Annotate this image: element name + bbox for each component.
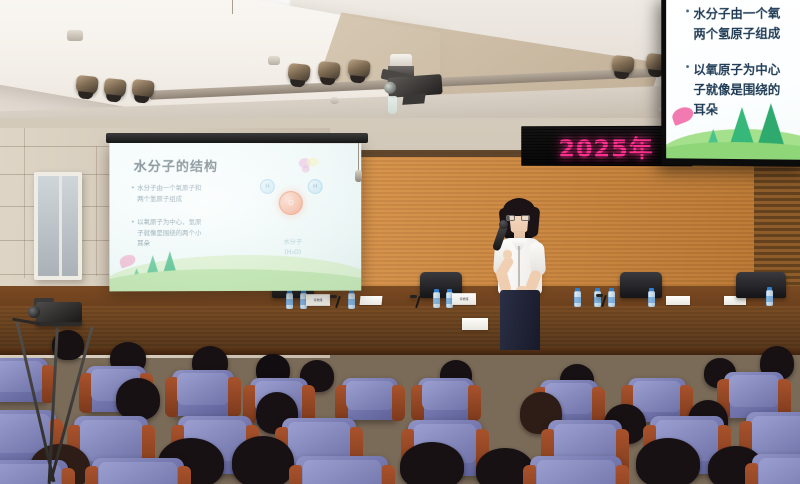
hydrogen-atom-right: H bbox=[308, 179, 323, 194]
slide-bullet-2: • 以氧原子为中心，氢原 子就像是围绕的两个小 耳朵 bbox=[132, 217, 242, 249]
screen-pull-cord bbox=[358, 143, 359, 173]
bullet-marker-icon: • bbox=[686, 4, 690, 44]
water-bottle bbox=[574, 288, 581, 307]
water-molecule-diagram: H H O bbox=[258, 179, 328, 225]
slide-bullet-1: • 水分子由一个氧原子和 两个氢原子组成 bbox=[132, 183, 242, 204]
slide-title: 水分子的结构 bbox=[134, 156, 218, 175]
ceiling-hanger-wire bbox=[232, 0, 233, 14]
ceiling-sprinkler bbox=[268, 56, 280, 65]
tree-icon bbox=[757, 103, 785, 147]
projection-screen-housing bbox=[106, 133, 368, 143]
bullet-marker-icon: • bbox=[132, 217, 134, 249]
audience-area bbox=[0, 320, 800, 484]
panel-chair bbox=[620, 272, 662, 298]
desk-microphone bbox=[330, 296, 346, 308]
video-camera bbox=[28, 298, 86, 324]
secondary-bullet-1-text: 水分子由一个氧 两个氢原子组成 bbox=[693, 4, 780, 45]
bullet-marker-icon: • bbox=[132, 183, 134, 204]
secondary-bullet-1: • 水分子由一个氧 两个氢原子组成 bbox=[686, 3, 800, 44]
presentation-slide: 水分子的结构 • 水分子由一个氧原子和 两个氢原子组成 • 以氧原子为中心，氢原… bbox=[109, 143, 361, 292]
name-card-label: 评委席 bbox=[452, 293, 476, 305]
water-bottle bbox=[348, 290, 355, 309]
wall-vent-window bbox=[34, 172, 82, 280]
ceiling-vent bbox=[67, 30, 83, 41]
water-bottle bbox=[433, 289, 440, 308]
hydrogen-atom-left: H bbox=[260, 179, 275, 194]
audience-head bbox=[400, 442, 464, 484]
slide-bullet-2-text: 以氧原子为中心，氢原 子就像是围绕的两个小 耳朵 bbox=[137, 217, 201, 249]
auditorium-seat[interactable] bbox=[752, 454, 800, 484]
butterfly-icon bbox=[298, 157, 320, 173]
audience-head bbox=[636, 438, 700, 484]
name-card-label: 评委席 bbox=[306, 294, 330, 306]
water-bottle bbox=[286, 290, 293, 309]
auditorium-seat[interactable] bbox=[92, 458, 184, 484]
presenter-hand bbox=[503, 250, 512, 259]
projection-screen: 水分子的结构 • 水分子由一个氧原子和 两个氢原子组成 • 以氧原子为中心，氢原… bbox=[109, 143, 361, 292]
auditorium-seat[interactable] bbox=[418, 378, 474, 420]
water-bottle bbox=[648, 288, 655, 307]
glasses-icon bbox=[506, 215, 530, 221]
secondary-hill-front bbox=[666, 141, 800, 160]
audience-head bbox=[116, 378, 160, 420]
paper-document bbox=[360, 296, 383, 305]
name-card: 评委席 bbox=[452, 293, 476, 305]
auditorium-seat[interactable] bbox=[530, 456, 622, 484]
paper-document bbox=[666, 296, 690, 305]
ceiling-sprinkler-2 bbox=[330, 97, 339, 104]
secondary-display-screen: • 水分子由一个氧 两个氢原子组成 • 以氧原子为中心 子就像是围绕的 耳朵 bbox=[666, 0, 800, 160]
molecule-caption-name: 水分子 bbox=[284, 239, 302, 246]
auditorium-seat[interactable] bbox=[342, 378, 398, 420]
slide-bullet-1-text: 水分子由一个氧原子和 两个氢原子组成 bbox=[137, 183, 201, 204]
water-bottle bbox=[766, 287, 773, 306]
molecule-caption-formula: (H₂O) bbox=[284, 249, 301, 256]
screen-pull-knob bbox=[355, 170, 362, 182]
lecture-hall-photo: 2025年 水分子的结构 • 水分子由一个氧原子和 两个氢原子组成 • 以氧原 bbox=[0, 0, 800, 484]
name-card: 评委席 bbox=[306, 294, 330, 306]
audience-head bbox=[232, 436, 294, 484]
camera-tripod bbox=[8, 300, 104, 484]
desk-microphone bbox=[596, 295, 612, 307]
auditorium-seat[interactable] bbox=[172, 370, 234, 416]
presenter-hair-side-right bbox=[527, 207, 541, 238]
auditorium-seat[interactable] bbox=[296, 456, 388, 484]
secondary-display: • 水分子由一个氧 两个氢原子组成 • 以氧原子为中心 子就像是围绕的 耳朵 bbox=[661, 0, 800, 167]
slide-bullet-list: • 水分子由一个氧原子和 两个氢原子组成 • 以氧原子为中心，氢原 子就像是围绕… bbox=[132, 183, 242, 262]
oxygen-atom-center: O bbox=[279, 191, 303, 215]
projector-side-object bbox=[388, 96, 397, 114]
panel-chair bbox=[736, 272, 786, 298]
desk-microphone bbox=[410, 296, 426, 308]
